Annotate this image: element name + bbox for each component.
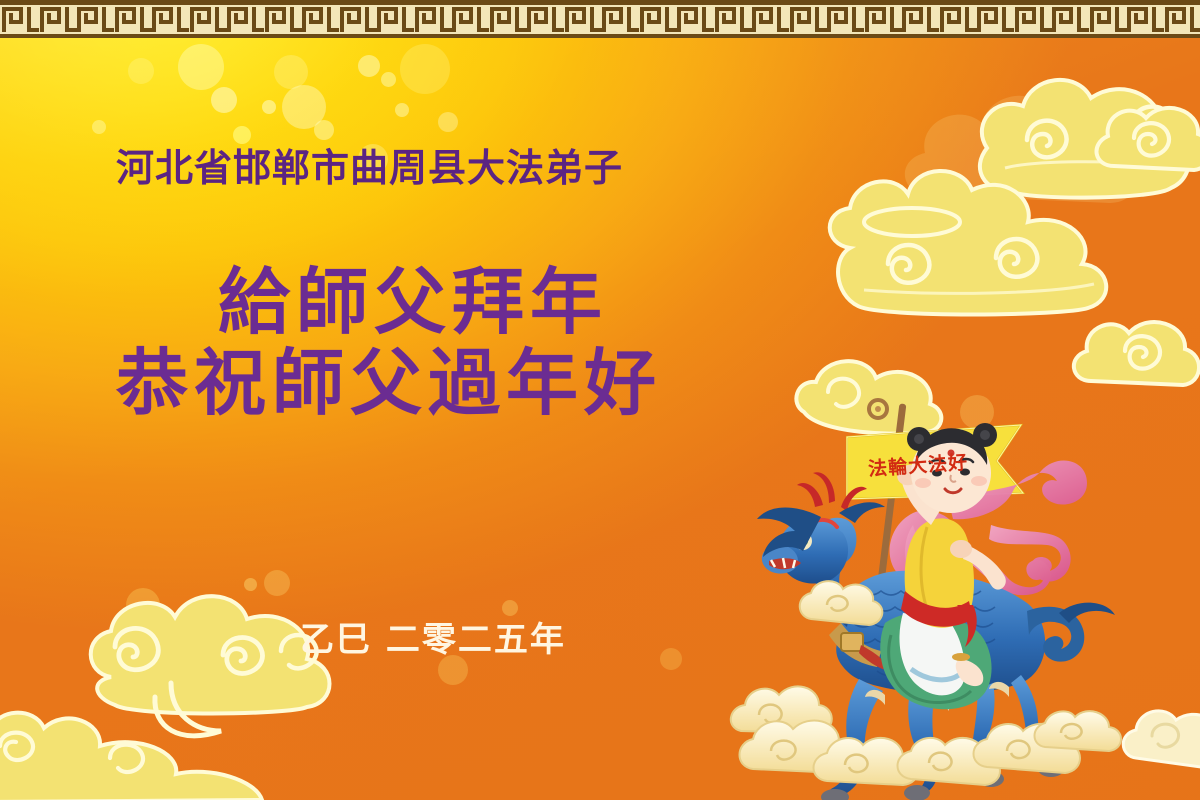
meander-unit [675, 5, 713, 34]
meander-unit [938, 5, 976, 34]
bokeh-dot [92, 120, 106, 134]
bokeh-dot [395, 103, 409, 117]
cloud-right-band [820, 140, 1200, 355]
meander-unit [75, 5, 113, 34]
bokeh-dot [282, 85, 326, 129]
meander-unit [638, 5, 676, 34]
greeting-card: 河北省邯郸市曲周县大法弟子 給師父拜年 恭祝師父過年好 乙巳 二零二五年 [0, 0, 1200, 800]
meander-unit [863, 5, 901, 34]
greeting-line-1: 給師父拜年 [218, 262, 662, 343]
meander-unit [1088, 5, 1126, 34]
bokeh-dot [400, 44, 450, 94]
meander-unit [788, 5, 826, 34]
bokeh-dot [211, 87, 237, 113]
bokeh-dot [128, 58, 154, 84]
meander-unit [1163, 5, 1200, 34]
meander-unit [900, 5, 938, 34]
bokeh-dot [358, 55, 380, 77]
cloud-top-right-small [1090, 90, 1200, 200]
meander-unit [0, 5, 38, 34]
bokeh-dot [262, 100, 276, 114]
bokeh-dot [178, 44, 224, 90]
meander-unit [375, 5, 413, 34]
meander-unit [263, 5, 301, 34]
date-label: 乙巳 二零二五年 [300, 612, 566, 661]
greeting-line-2: 恭祝師父過年好 [116, 343, 662, 424]
bokeh-dot [244, 578, 257, 591]
meander-unit [450, 5, 488, 34]
meander-unit [150, 5, 188, 34]
meander-unit [975, 5, 1013, 34]
meander-unit [713, 5, 751, 34]
meander-unit [750, 5, 788, 34]
bokeh-dot [264, 570, 290, 596]
bokeh-dot [660, 648, 682, 670]
meander-unit [38, 5, 76, 34]
meander-unit [413, 5, 451, 34]
greeting-block: 給師父拜年 恭祝師父過年好 [196, 262, 662, 425]
page-title: 河北省邯郸市曲周县大法弟子 [116, 137, 623, 192]
meander-unit [188, 5, 226, 34]
meander-unit [825, 5, 863, 34]
meander-unit [488, 5, 526, 34]
cloud-bottom-left-lower [0, 690, 310, 800]
ghost-cloud-background [890, 55, 1170, 275]
meander-unit [338, 5, 376, 34]
meander-unit [1050, 5, 1088, 34]
meander-unit [1013, 5, 1051, 34]
meander-unit [1125, 5, 1163, 34]
meander-unit [525, 5, 563, 34]
meander-unit [563, 5, 601, 34]
meander-unit [300, 5, 338, 34]
boy-riding-dragon-illustration [735, 395, 1155, 800]
bokeh-dot [126, 588, 160, 622]
cloud-top-right-large [965, 60, 1200, 260]
meander-unit [600, 5, 638, 34]
meander-pattern-row [0, 5, 1200, 34]
meander-unit [113, 5, 151, 34]
bokeh-dot [438, 112, 458, 132]
meander-unit [225, 5, 263, 34]
bokeh-dot [274, 55, 308, 89]
greek-key-meander-border [0, 0, 1200, 38]
bokeh-dot [381, 72, 396, 87]
